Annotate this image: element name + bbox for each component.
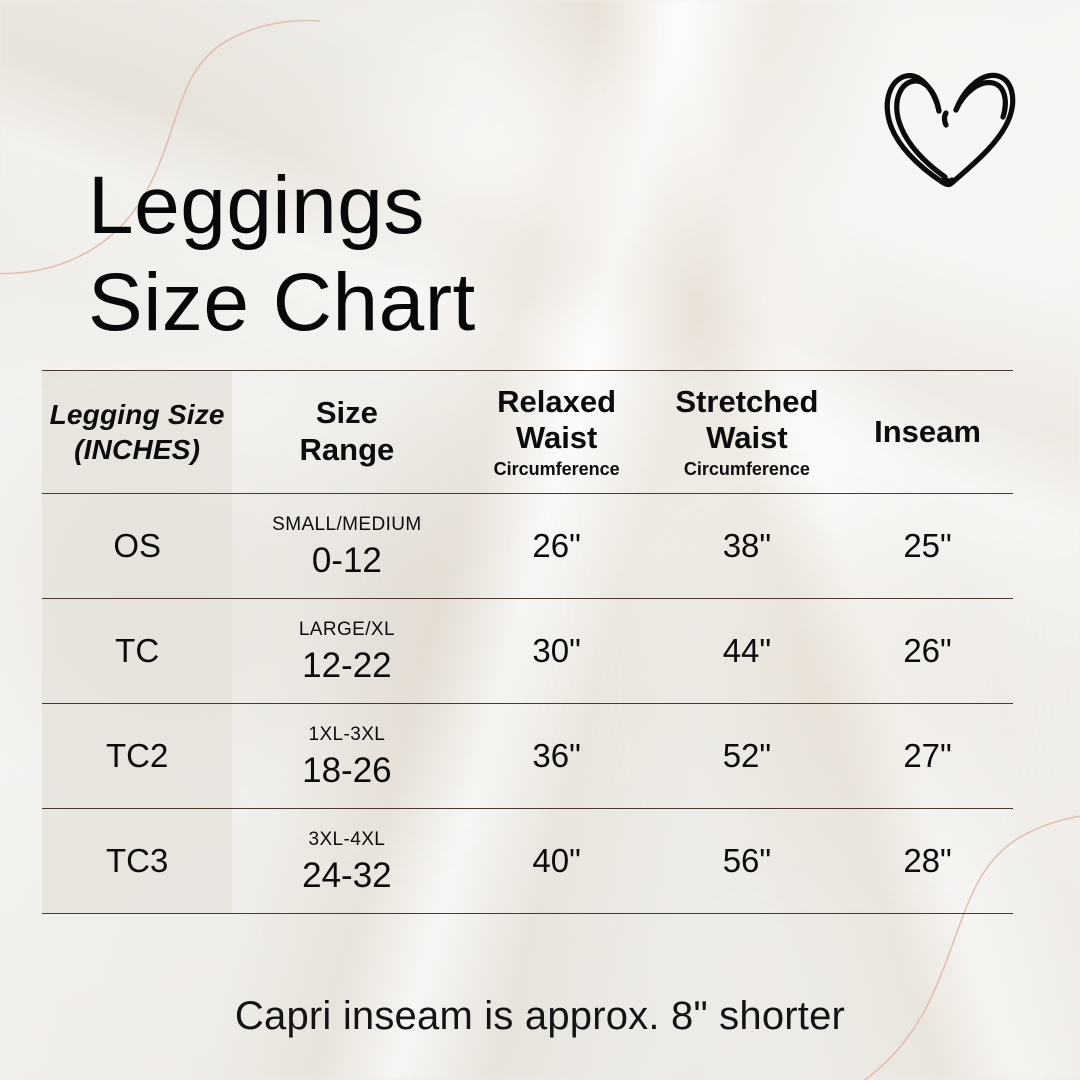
page-title: Leggings Size Chart xyxy=(88,158,476,352)
row-inseam: 27" xyxy=(842,704,1013,809)
row-relaxed-waist: 36" xyxy=(461,704,651,809)
row-stretched-waist: 44" xyxy=(652,599,842,704)
header-size-range: Size Range xyxy=(232,371,461,494)
row-size-range: LARGE/XL 12-22 xyxy=(232,599,461,704)
row-size-range-label: LARGE/XL xyxy=(232,620,461,639)
table-body: OS SMALL/MEDIUM 0-12 26" 38" 25" TC LARG… xyxy=(42,494,1013,914)
row-size-range-value: 18-26 xyxy=(232,753,461,788)
header-inseam: Inseam xyxy=(842,371,1013,494)
row-stretched-waist: 56" xyxy=(652,809,842,914)
row-size-range-value: 24-32 xyxy=(232,858,461,893)
row-stretched-waist: 52" xyxy=(652,704,842,809)
footer-note: Capri inseam is approx. 8" shorter xyxy=(0,994,1080,1039)
header-stretched-waist: Stretched Waist Circumference xyxy=(652,371,842,494)
row-relaxed-waist: 30" xyxy=(461,599,651,704)
row-size-code: TC2 xyxy=(42,704,232,809)
row-size-range-label: 3XL-4XL xyxy=(232,830,461,849)
row-relaxed-waist: 26" xyxy=(461,494,651,599)
row-size-range-value: 0-12 xyxy=(232,543,461,578)
row-size-range-label: SMALL/MEDIUM xyxy=(232,515,461,534)
table-row: TC LARGE/XL 12-22 30" 44" 26" xyxy=(42,599,1013,704)
table-header: Legging Size (INCHES) Size Range Relaxed… xyxy=(42,371,1013,494)
header-stretched-waist-main: Stretched Waist xyxy=(675,384,818,456)
header-relaxed-waist-sub: Circumference xyxy=(461,458,651,481)
header-relaxed-waist-main: Relaxed Waist xyxy=(497,384,616,456)
table-header-row: Legging Size (INCHES) Size Range Relaxed… xyxy=(42,371,1013,494)
row-inseam: 25" xyxy=(842,494,1013,599)
header-relaxed-waist: Relaxed Waist Circumference xyxy=(461,371,651,494)
row-size-range: SMALL/MEDIUM 0-12 xyxy=(232,494,461,599)
header-legging-size: Legging Size (INCHES) xyxy=(42,371,232,494)
row-size-code: TC3 xyxy=(42,809,232,914)
row-size-code: TC xyxy=(42,599,232,704)
row-size-range: 3XL-4XL 24-32 xyxy=(232,809,461,914)
heart-doodle-icon xyxy=(876,56,1028,192)
size-chart-canvas: Leggings Size Chart Legging Size (INCHES… xyxy=(0,0,1080,1080)
row-inseam: 26" xyxy=(842,599,1013,704)
row-relaxed-waist: 40" xyxy=(461,809,651,914)
size-chart-table-wrap: Legging Size (INCHES) Size Range Relaxed… xyxy=(42,370,1013,914)
row-size-code: OS xyxy=(42,494,232,599)
row-size-range-label: 1XL-3XL xyxy=(232,725,461,744)
header-stretched-waist-sub: Circumference xyxy=(652,458,842,481)
row-size-range-value: 12-22 xyxy=(232,648,461,683)
row-size-range: 1XL-3XL 18-26 xyxy=(232,704,461,809)
table-row: OS SMALL/MEDIUM 0-12 26" 38" 25" xyxy=(42,494,1013,599)
table-row: TC3 3XL-4XL 24-32 40" 56" 28" xyxy=(42,809,1013,914)
table-row: TC2 1XL-3XL 18-26 36" 52" 27" xyxy=(42,704,1013,809)
row-stretched-waist: 38" xyxy=(652,494,842,599)
size-chart-table: Legging Size (INCHES) Size Range Relaxed… xyxy=(42,370,1013,914)
row-inseam: 28" xyxy=(842,809,1013,914)
